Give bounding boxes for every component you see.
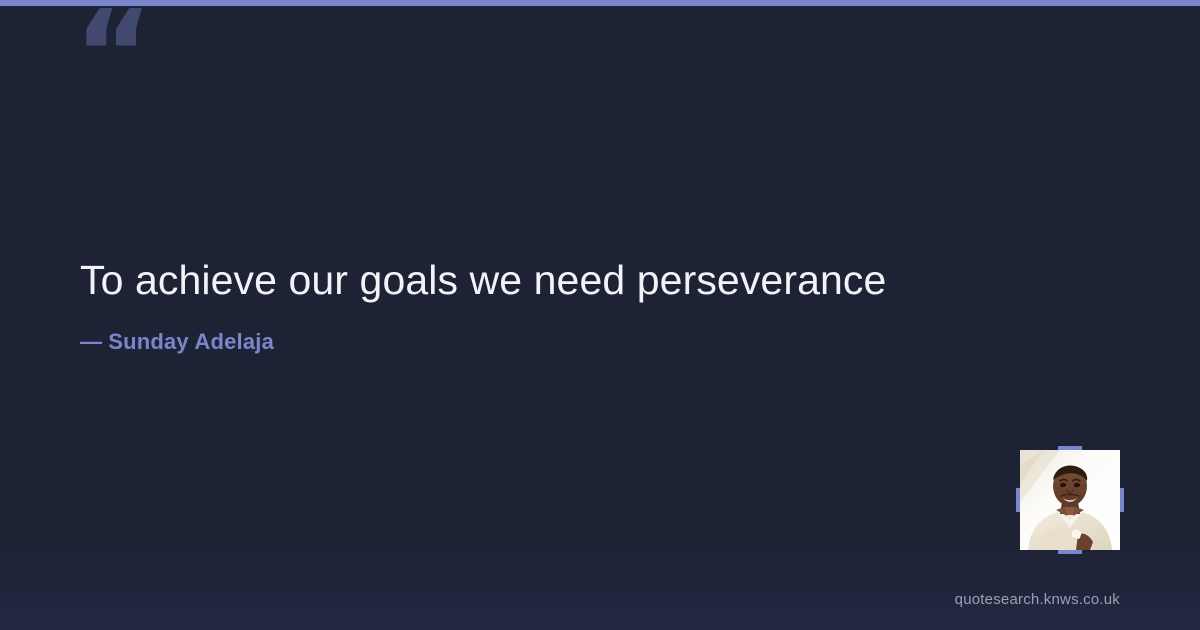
author-dash: — — [80, 329, 102, 354]
frame-tick-right-icon — [1120, 488, 1124, 512]
quote-text: To achieve our goals we need perseveranc… — [80, 255, 940, 306]
avatar — [1020, 450, 1120, 550]
quote-author: —Sunday Adelaja — [80, 329, 940, 355]
watermark-url: quotesearch.knws.co.uk — [955, 591, 1120, 608]
author-portrait-frame — [1020, 450, 1120, 550]
quote-block: To achieve our goals we need perseveranc… — [80, 255, 940, 355]
quote-card: “ To achieve our goals we need persevera… — [0, 0, 1200, 630]
opening-quote-icon: “ — [74, 0, 153, 116]
author-name: Sunday Adelaja — [108, 329, 274, 354]
top-accent-bar — [0, 0, 1200, 6]
frame-tick-bottom-icon — [1058, 550, 1082, 554]
